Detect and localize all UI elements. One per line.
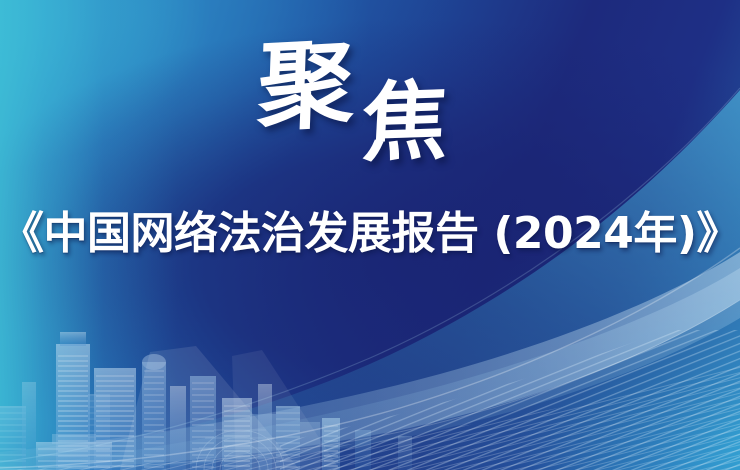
report-title-row: 《中国网络法治发展报告 (2024年)》 [0, 208, 740, 260]
calligraphy-char-ju: 聚 [256, 36, 356, 137]
report-title: 《中国网络法治发展报告 (2024年)》 [0, 208, 740, 260]
calligraphy-char-jiao: 焦 [360, 79, 451, 168]
city-skyline-graphic [0, 310, 470, 470]
focus-report-banner: 聚 焦 《中国网络法治发展报告 (2024年)》 [0, 0, 740, 470]
calligraphy-headline: 聚 焦 [0, 36, 740, 186]
